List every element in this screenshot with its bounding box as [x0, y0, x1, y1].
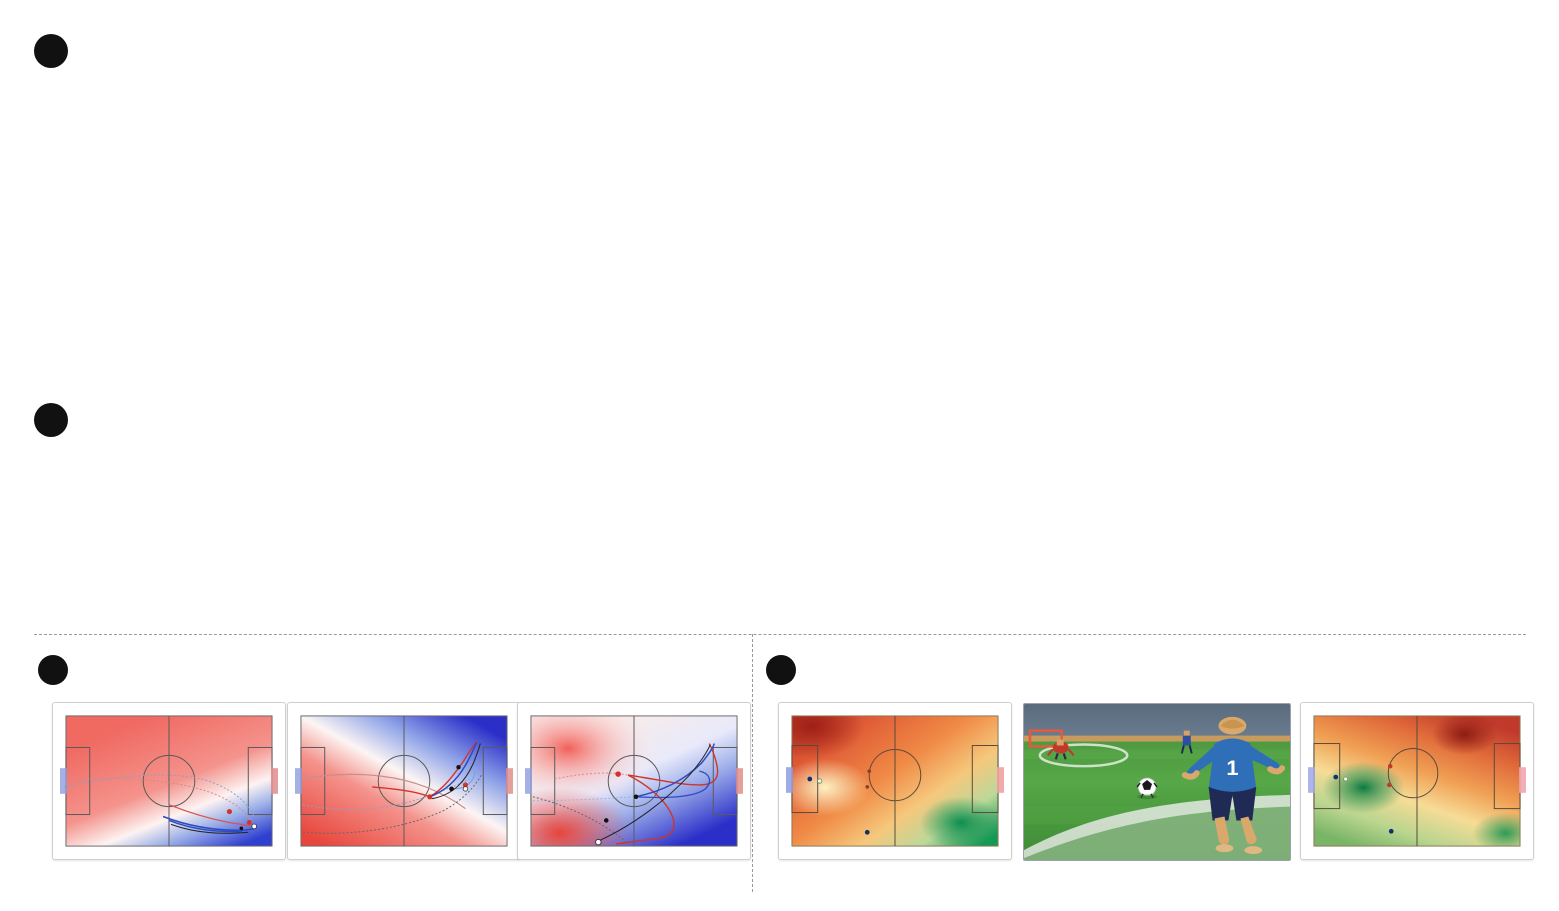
panel-b-header	[34, 403, 80, 437]
receiver-value-pitch	[1300, 702, 1534, 860]
panel-a-header	[34, 34, 80, 68]
panel-c-header	[38, 655, 80, 685]
pitch-heatmap-svg	[525, 710, 743, 852]
render-svg: 1	[1024, 704, 1290, 860]
division-of-labour-pitch-1	[52, 702, 286, 860]
ball-icon	[1137, 778, 1157, 799]
pitch-heatmap-svg	[60, 710, 278, 852]
panel-d-badge	[766, 655, 796, 685]
division-of-labour-pitch-3	[517, 702, 751, 860]
svg-text:1: 1	[1226, 755, 1238, 780]
probe-task-render: 1	[1023, 703, 1291, 861]
panel-d-header	[766, 655, 808, 685]
division-of-labour-pitch-2	[287, 702, 521, 860]
value-heatmap-svg	[1308, 710, 1526, 852]
horizontal-divider	[34, 634, 1526, 635]
passer-value-pitch	[778, 702, 1012, 860]
panel-a-badge	[34, 34, 68, 68]
panel-c-badge	[38, 655, 68, 685]
vertical-divider	[752, 634, 753, 892]
pitch-heatmap-svg	[295, 710, 513, 852]
panel-b-badge	[34, 403, 68, 437]
value-heatmap-svg	[786, 710, 1004, 852]
